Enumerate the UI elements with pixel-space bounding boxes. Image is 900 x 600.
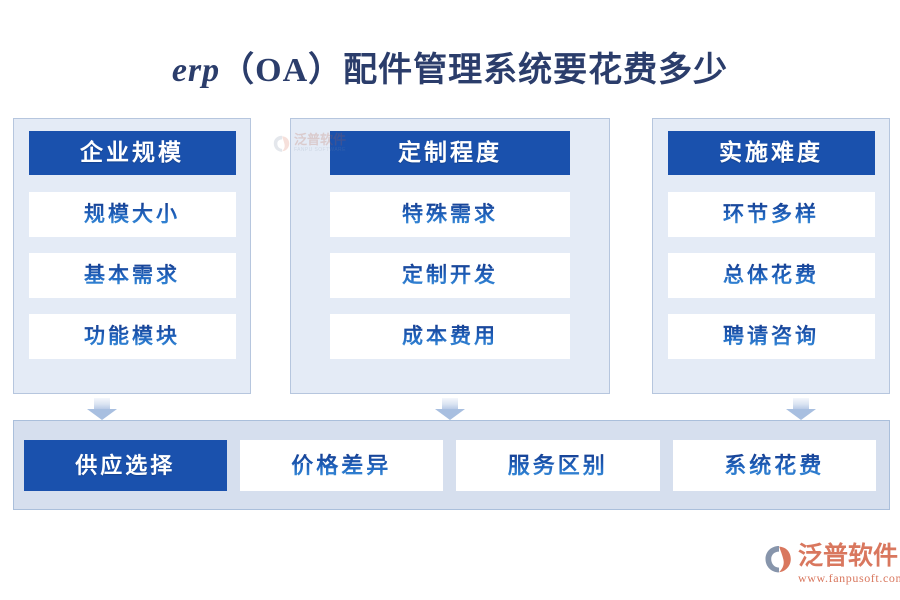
column-header-0: 企业规模 [29, 131, 236, 175]
column-header-2: 实施难度 [668, 131, 875, 175]
column-item-2-0: 环节多样 [668, 192, 875, 237]
bottom-cell-label: 系统花费 [724, 453, 824, 478]
fanpu-logo-icon [762, 543, 794, 575]
column-enterprise-scale: 企业规模 规模大小 基本需求 功能模块 [13, 118, 251, 394]
column-item-0-0: 规模大小 [29, 192, 236, 237]
arrow-head [786, 409, 816, 420]
column-item-1-2: 成本费用 [330, 314, 570, 359]
bottom-cell-label: 服务区别 [508, 453, 608, 478]
arrow-down-icon-column-2 [435, 398, 465, 420]
arrow-down-icon-column-3 [786, 398, 816, 420]
column-item-label: 聘请咨询 [723, 324, 819, 348]
column-item-label: 成本费用 [402, 324, 498, 348]
arrow-down-icon-column-1 [87, 398, 117, 420]
brand-logo: 泛普软件 www.fanpusoft.com [762, 543, 900, 586]
column-item-2-1: 总体花费 [668, 253, 875, 298]
column-item-1-0: 特殊需求 [330, 192, 570, 237]
bottom-cell-1: 服务区别 [456, 440, 660, 491]
page-title: erp（OA）配件管理系统要花费多少 [0, 42, 900, 91]
column-item-label: 特殊需求 [402, 202, 498, 226]
column-implementation-difficulty: 实施难度 环节多样 总体花费 聘请咨询 [652, 118, 890, 394]
bottom-cell-primary: 供应选择 [24, 440, 227, 491]
columns-group: 企业规模 规模大小 基本需求 功能模块 定制程度 特殊需求 定制开发 成本费用 … [0, 118, 900, 396]
column-item-2-2: 聘请咨询 [668, 314, 875, 359]
column-item-label: 规模大小 [84, 202, 180, 226]
brand-name: 泛普软件 [798, 543, 900, 569]
bottom-cell-2: 系统花费 [673, 440, 877, 491]
brand-logo-text: 泛普软件 www.fanpusoft.com [798, 543, 900, 586]
page-title-rest: （OA）配件管理系统要花费多少 [220, 52, 728, 89]
column-item-label: 定制开发 [402, 263, 498, 287]
column-item-label: 基本需求 [84, 263, 180, 287]
column-item-0-2: 功能模块 [29, 314, 236, 359]
arrow-shaft [793, 398, 809, 409]
arrow-shaft [94, 398, 110, 409]
arrow-head [87, 409, 117, 420]
diagram-canvas: erp（OA）配件管理系统要花费多少 企业规模 规模大小 基本需求 功能模块 定… [0, 0, 900, 600]
arrow-head [435, 409, 465, 420]
page-title-latin: erp [172, 52, 220, 89]
arrow-shaft [442, 398, 458, 409]
column-header-1: 定制程度 [330, 131, 570, 175]
column-customization-level: 定制程度 特殊需求 定制开发 成本费用 [290, 118, 610, 394]
bottom-bar: 供应选择 价格差异 服务区别 系统花费 [13, 420, 890, 510]
bottom-cell-label: 价格差异 [291, 453, 391, 478]
bottom-cell-0: 价格差异 [240, 440, 444, 491]
column-item-0-1: 基本需求 [29, 253, 236, 298]
column-item-1-1: 定制开发 [330, 253, 570, 298]
brand-url: www.fanpusoft.com [798, 571, 900, 586]
column-item-label: 环节多样 [723, 202, 819, 226]
column-item-label: 总体花费 [723, 263, 819, 287]
column-item-label: 功能模块 [84, 324, 180, 348]
